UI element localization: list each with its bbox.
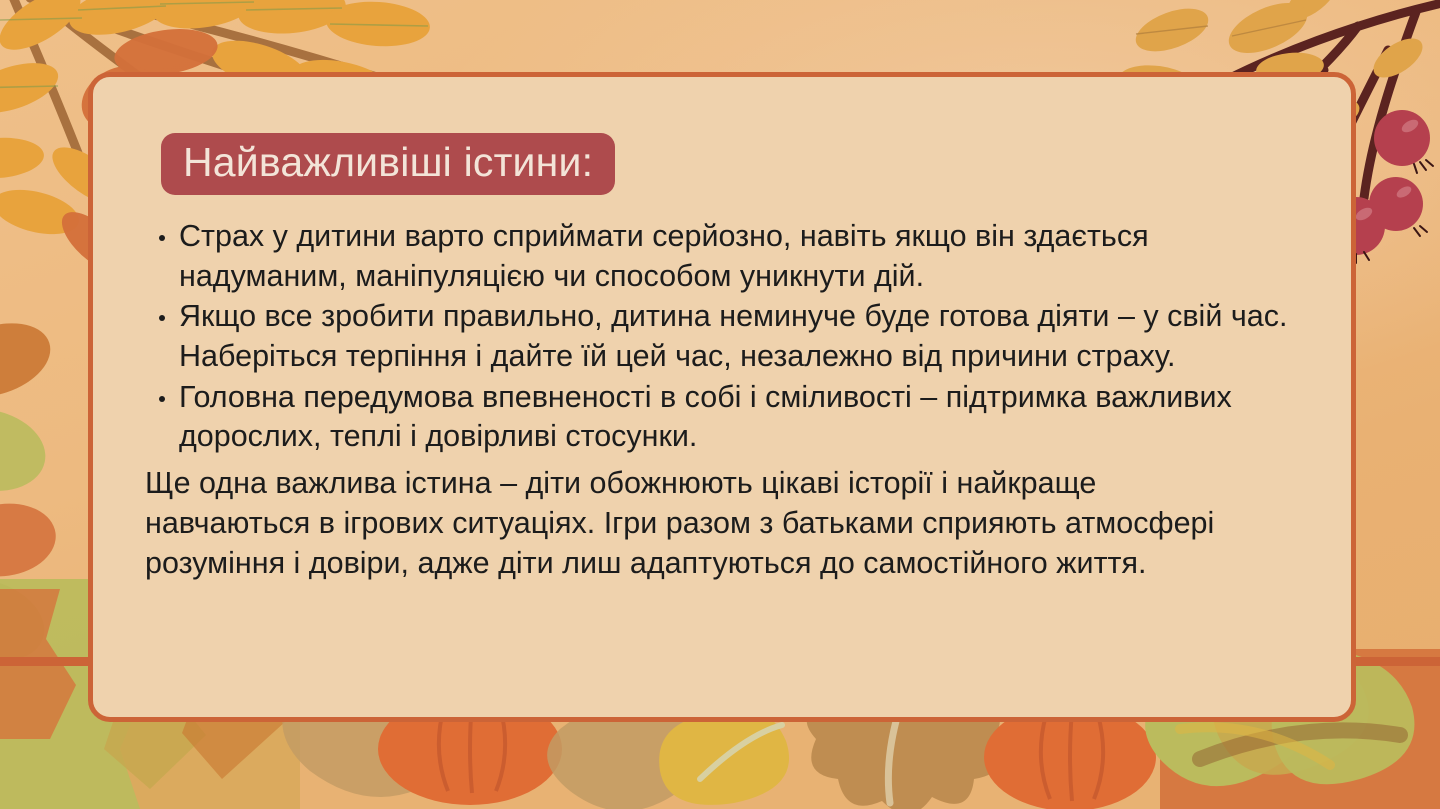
body-text-block: Страх у дитини варто сприймати серйозно,… (145, 217, 1310, 584)
page-title: Найважливіші істини: (183, 140, 593, 184)
truths-bullet-list: Страх у дитини варто сприймати серйозно,… (145, 217, 1310, 457)
list-item: Головна передумова впевненості в собі і … (145, 378, 1310, 457)
closing-paragraph: Ще одна важлива істина – діти обожнюють … (145, 463, 1265, 584)
slide-canvas: Найважливіші істини: Страх у дитини варт… (0, 0, 1440, 809)
list-item: Якщо все зробити правильно, дитина немин… (145, 297, 1310, 376)
card-content: Найважливіші істини: Страх у дитини варт… (93, 77, 1351, 717)
slide-title-badge: Найважливіші істини: (161, 133, 615, 195)
list-item: Страх у дитини варто сприймати серйозно,… (145, 217, 1310, 296)
content-card: Найважливіші істини: Страх у дитини варт… (88, 72, 1356, 722)
